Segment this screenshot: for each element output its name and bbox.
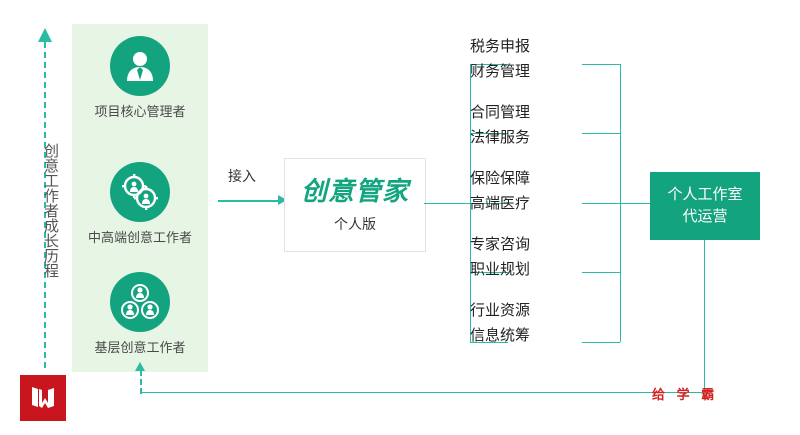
- service-item: 高端医疗: [470, 191, 585, 216]
- bracket-to-result-line: [620, 203, 650, 204]
- gears-people-icon: [110, 162, 170, 222]
- service-item: 信息统筹: [470, 323, 585, 348]
- card-to-bracket-line: [424, 203, 470, 204]
- businessman-icon: [110, 36, 170, 96]
- right-bracket-arm: [582, 342, 620, 343]
- service-pair[interactable]: 行业资源 信息统筹: [470, 298, 585, 364]
- tier-label: 中高端创意工作者: [72, 230, 208, 246]
- right-bracket-arm: [582, 133, 620, 134]
- growth-axis-label: 创意工作者成长历程: [28, 110, 60, 310]
- watermark-text: 给 学 霸: [652, 384, 718, 403]
- service-item: 财务管理: [470, 59, 585, 84]
- tier-label: 基层创意工作者: [72, 340, 208, 356]
- service-list: 税务申报 财务管理 合同管理 法律服务 保险保障 高端医疗 专家咨询 职业规划 …: [470, 34, 585, 364]
- service-item: 合同管理: [470, 100, 585, 125]
- service-item: 职业规划: [470, 257, 585, 282]
- right-bracket-arm: [582, 203, 620, 204]
- up-arrow-icon: [38, 28, 52, 42]
- feedback-line-dashed: [140, 370, 142, 394]
- service-pair[interactable]: 合同管理 法律服务: [470, 100, 585, 166]
- product-edition: 个人版: [334, 214, 376, 234]
- team-network-icon: [110, 272, 170, 332]
- accept-arrow-line: [218, 200, 280, 202]
- result-line-2: 代运营: [682, 206, 727, 228]
- result-line-1: 个人工作室: [667, 184, 742, 206]
- accept-label: 接入: [228, 166, 256, 186]
- result-box[interactable]: 个人工作室 代运营: [650, 172, 760, 240]
- tier-item-manager[interactable]: 项目核心管理者: [72, 36, 208, 120]
- arrow-up-icon: [135, 362, 145, 371]
- tier-item-midhigh[interactable]: 中高端创意工作者: [72, 162, 208, 246]
- service-item: 法律服务: [470, 125, 585, 150]
- right-bracket-arm: [582, 64, 620, 65]
- service-item: 行业资源: [470, 298, 585, 323]
- service-item: 保险保障: [470, 166, 585, 191]
- service-pair[interactable]: 专家咨询 职业规划: [470, 232, 585, 298]
- diagram-canvas: 创意工作者成长历程 项目核心管理者: [0, 0, 800, 435]
- w-book-logo-icon: [20, 375, 66, 421]
- service-item: 专家咨询: [470, 232, 585, 257]
- feedback-line-horizontal: [140, 392, 704, 393]
- tier-label: 项目核心管理者: [72, 104, 208, 120]
- product-title: 创意管家: [301, 176, 409, 206]
- right-bracket-arm: [582, 272, 620, 273]
- product-card[interactable]: 创意管家 个人版: [284, 158, 426, 252]
- service-pair[interactable]: 税务申报 财务管理: [470, 34, 585, 100]
- tier-item-basic[interactable]: 基层创意工作者: [72, 272, 208, 356]
- service-pair[interactable]: 保险保障 高端医疗: [470, 166, 585, 232]
- service-item: 税务申报: [470, 34, 585, 59]
- feedback-line-vertical: [704, 240, 705, 392]
